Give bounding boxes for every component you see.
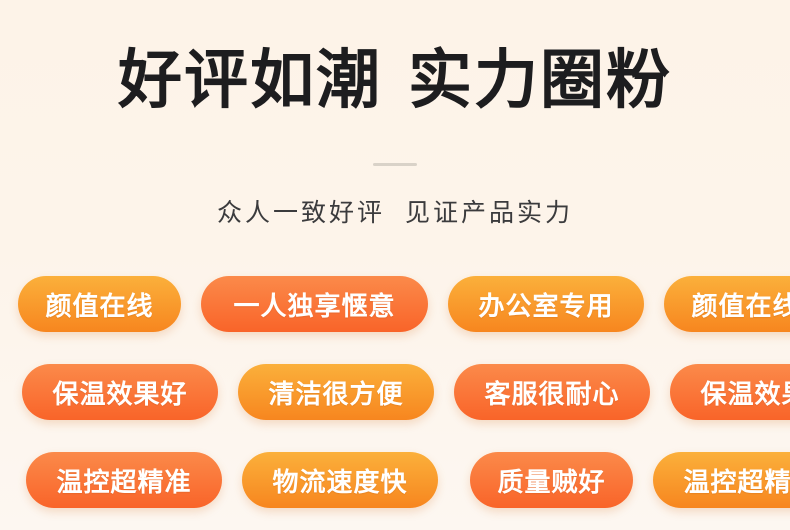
tag-row: 保温效果好 清洁很方便 客服很耐心 保温效果好 (0, 364, 790, 452)
tag-chip[interactable]: 温控超精准 (653, 452, 790, 508)
tag-rows: 颜值在线 一人独享惬意 办公室专用 颜值在线 保温效果好 清洁很方便 客服很耐心… (0, 276, 790, 530)
tag-chip[interactable]: 物流速度快 (242, 452, 438, 508)
promo-banner: 好评如潮实力圈粉 众人一致好评见证产品实力 颜值在线 一人独享惬意 办公室专用 … (0, 0, 790, 530)
tag-chip[interactable]: 办公室专用 (448, 276, 644, 332)
tag-chip[interactable]: 保温效果好 (22, 364, 218, 420)
page-title: 好评如潮实力圈粉 (0, 45, 790, 117)
tag-chip[interactable]: 客服很耐心 (454, 364, 650, 420)
tag-chip[interactable]: 颜值在线 (664, 276, 790, 332)
page-title-part1: 好评如潮 (118, 44, 382, 116)
tag-chip[interactable]: 一人独享惬意 (201, 276, 428, 332)
tag-chip[interactable]: 清洁很方便 (238, 364, 434, 420)
tag-row: 颜值在线 一人独享惬意 办公室专用 颜值在线 (0, 276, 790, 364)
page-subtitle-part2: 见证产品实力 (405, 199, 573, 227)
title-divider (373, 163, 417, 166)
tag-row: 温控超精准 物流速度快 质量贼好 温控超精准 (0, 452, 790, 530)
tag-chip[interactable]: 保温效果好 (670, 364, 790, 420)
tag-chip[interactable]: 质量贼好 (470, 452, 633, 508)
tag-chip[interactable]: 温控超精准 (26, 452, 222, 508)
page-subtitle: 众人一致好评见证产品实力 (0, 193, 790, 229)
tag-chip[interactable]: 颜值在线 (18, 276, 181, 332)
page-title-part2: 实力圈粉 (408, 44, 672, 116)
page-subtitle-part1: 众人一致好评 (217, 199, 385, 227)
